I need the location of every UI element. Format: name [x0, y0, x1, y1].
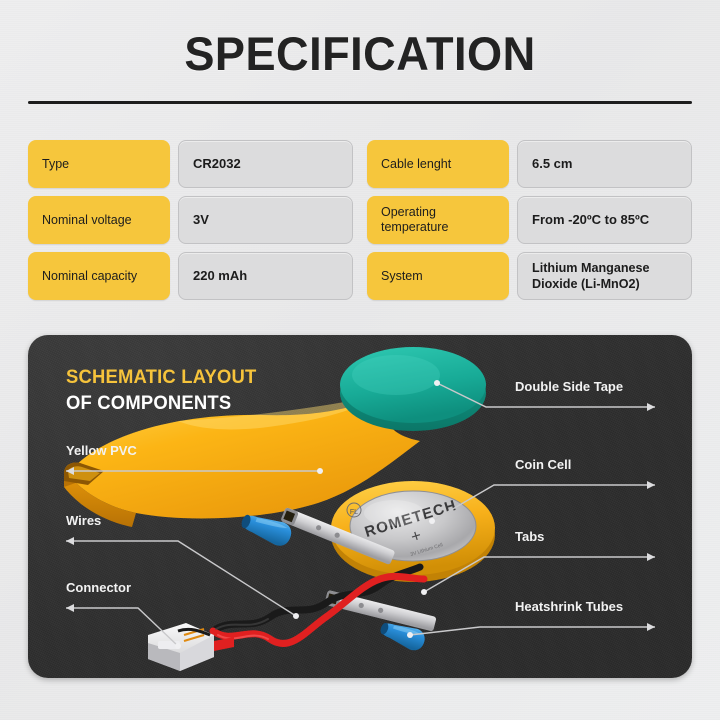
spec-value: Lithium Manganese Dioxide (Li-MnO2): [517, 252, 692, 300]
diagram-label-heatshrink-tubes: Heatshrink Tubes: [515, 599, 623, 615]
table-row: Type CR2032: [28, 140, 353, 188]
spec-value: From -20ºC to 85ºC: [517, 196, 692, 244]
spec-value: CR2032: [178, 140, 353, 188]
page-background: SPECIFICATION Type CR2032 Nominal voltag…: [0, 0, 720, 720]
specification-table: Type CR2032 Nominal voltage 3V Nominal c…: [28, 140, 692, 300]
diagram-label-connector: Connector: [66, 580, 131, 596]
spec-column-right: Cable lenght 6.5 cm Operating temperatur…: [367, 140, 692, 300]
table-row: Nominal voltage 3V: [28, 196, 353, 244]
diagram-label-tabs: Tabs: [515, 529, 544, 545]
page-title: SPECIFICATION: [14, 26, 705, 82]
table-row: Operating temperature From -20ºC to 85ºC: [367, 196, 692, 244]
table-row: Cable lenght 6.5 cm: [367, 140, 692, 188]
diagram-label-wires: Wires: [66, 513, 101, 529]
spec-column-left: Type CR2032 Nominal voltage 3V Nominal c…: [28, 140, 353, 300]
spec-label: Cable lenght: [367, 140, 509, 188]
title-divider: [28, 101, 692, 104]
spec-label: System: [367, 252, 509, 300]
spec-label: Operating temperature: [367, 196, 509, 244]
spec-value: 220 mAh: [178, 252, 353, 300]
spec-label: Nominal capacity: [28, 252, 170, 300]
spec-label: Type: [28, 140, 170, 188]
diagram-label-double-side-tape: Double Side Tape: [515, 379, 623, 395]
table-row: System Lithium Manganese Dioxide (Li-MnO…: [367, 252, 692, 300]
svg-text:FL: FL: [350, 509, 358, 516]
spec-value: 6.5 cm: [517, 140, 692, 188]
leader-line-heatshrink-tubes: [407, 623, 655, 638]
diagram-label-coin-cell: Coin Cell: [515, 457, 571, 473]
spec-value: 3V: [178, 196, 353, 244]
schematic-panel: SCHEMATIC LAYOUT OF COMPONENTS: [28, 335, 692, 678]
diagram-label-yellow-pvc: Yellow PVC: [66, 443, 137, 459]
table-row: Nominal capacity 220 mAh: [28, 252, 353, 300]
spec-label: Nominal voltage: [28, 196, 170, 244]
leader-line-wires: [66, 537, 299, 619]
double-side-tape-component: [340, 347, 486, 431]
